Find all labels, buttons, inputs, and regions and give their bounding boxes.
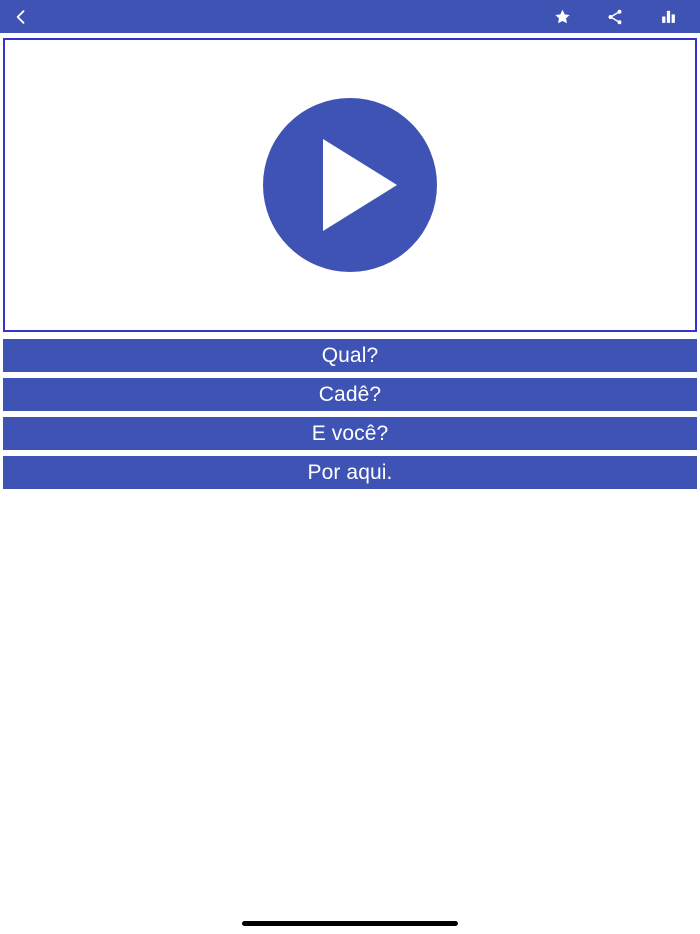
star-icon — [554, 8, 571, 25]
app-bar-left-group — [0, 4, 34, 30]
answer-option-label: Por aqui. — [308, 462, 393, 483]
answer-option-1[interactable]: Qual? — [3, 339, 697, 372]
answer-option-label: Qual? — [322, 345, 379, 366]
bar-chart-icon — [660, 8, 677, 25]
share-button[interactable] — [602, 4, 628, 30]
home-indicator[interactable] — [242, 921, 458, 926]
chevron-left-icon — [11, 7, 31, 27]
video-player[interactable] — [3, 38, 697, 332]
statistics-button[interactable] — [655, 4, 681, 30]
answer-option-3[interactable]: E você? — [3, 417, 697, 450]
answer-option-2[interactable]: Cadê? — [3, 378, 697, 411]
play-button[interactable] — [263, 98, 437, 272]
answer-option-label: Cadê? — [319, 384, 381, 405]
answer-options-list: Qual? Cadê? E você? Por aqui. — [3, 339, 697, 495]
share-icon — [606, 8, 624, 26]
app-bar-actions — [549, 4, 700, 30]
answer-option-4[interactable]: Por aqui. — [3, 456, 697, 489]
back-button[interactable] — [8, 4, 34, 30]
favorite-button[interactable] — [549, 4, 575, 30]
play-icon — [323, 139, 397, 231]
app-bar — [0, 0, 700, 33]
answer-option-label: E você? — [312, 423, 389, 444]
